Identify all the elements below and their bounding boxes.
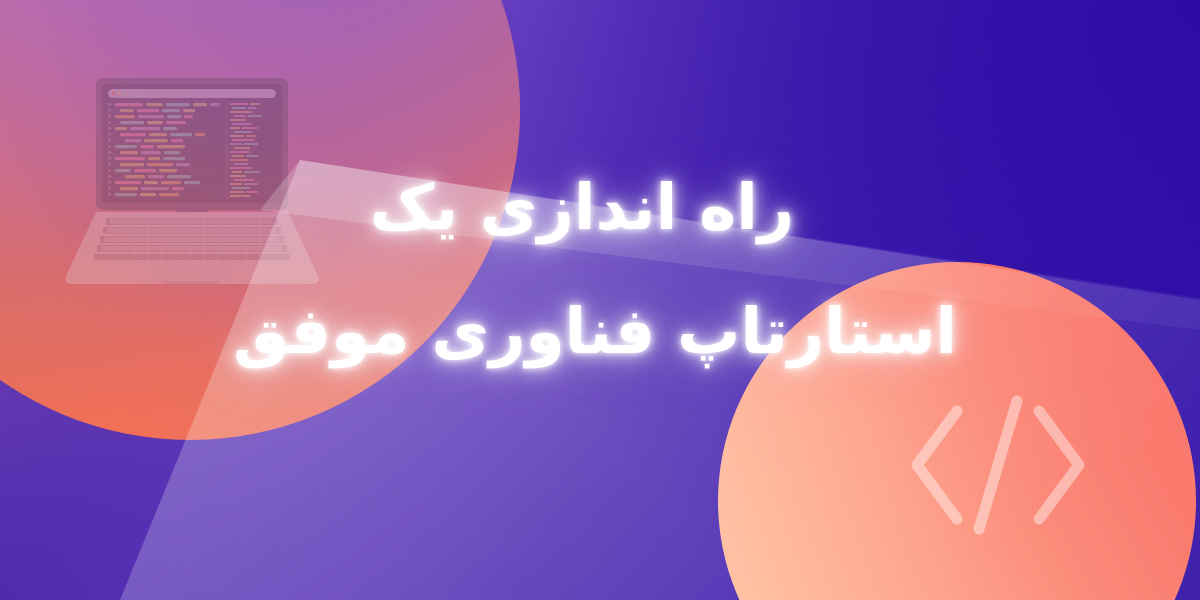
- promo-banner: راه اندازی یک استارتاپ فناوری موفق: [0, 0, 1200, 600]
- code-brackets-icon: [905, 395, 1105, 535]
- left-angle-bracket: [917, 411, 957, 519]
- right-angle-bracket: [1039, 411, 1079, 519]
- slash: [979, 401, 1017, 529]
